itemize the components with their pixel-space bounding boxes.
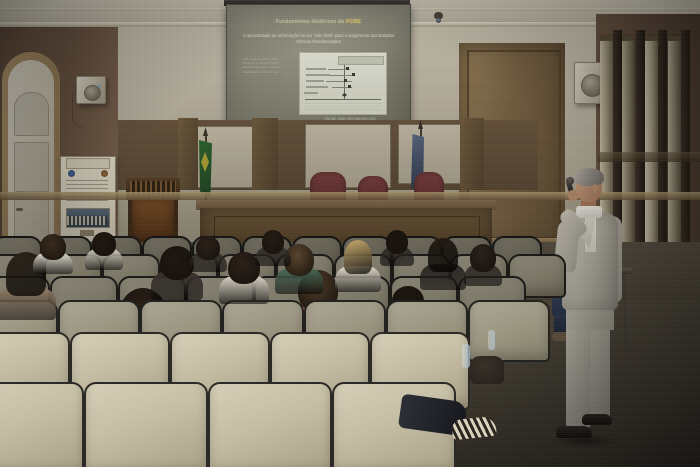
stage-pillar bbox=[460, 118, 484, 190]
figure-row-label bbox=[306, 80, 324, 82]
figure-ci-bar bbox=[330, 75, 354, 76]
stage-pillar bbox=[252, 118, 278, 190]
person-head-short bbox=[40, 234, 66, 260]
poster-logo-icon bbox=[68, 170, 75, 177]
slide-title-text: Fundamentos Históricos da bbox=[276, 19, 346, 25]
figure-header-box bbox=[338, 56, 384, 65]
figure-point-estimate bbox=[352, 73, 355, 76]
auditorium-photograph: Fundamentos Históricos da PCBE A necessi… bbox=[0, 0, 700, 467]
water-bottle bbox=[488, 330, 495, 350]
figure-row-label bbox=[306, 74, 330, 76]
person-head-short bbox=[92, 232, 116, 256]
presenter-ear bbox=[592, 184, 598, 192]
pilaster-band bbox=[598, 152, 700, 162]
stage-pillar bbox=[178, 118, 198, 190]
person-head-short bbox=[386, 230, 408, 254]
person-head-blond bbox=[344, 240, 372, 274]
slide-title: Fundamentos Históricos da PCBE bbox=[227, 19, 410, 25]
poster-footer-logo-icon bbox=[80, 230, 94, 236]
camera-lens-icon bbox=[436, 18, 441, 23]
presenter-shoe bbox=[556, 426, 592, 438]
poster-logo-icon bbox=[101, 170, 108, 177]
person-head-short bbox=[470, 244, 496, 272]
figure-summary-diamond bbox=[342, 93, 347, 97]
water-bottle bbox=[462, 344, 470, 368]
figure-point-estimate bbox=[346, 67, 349, 70]
figure-row-label bbox=[304, 92, 318, 94]
auditorium-seat[interactable] bbox=[468, 300, 550, 362]
presenter bbox=[548, 168, 638, 458]
presenter-shoe bbox=[582, 414, 612, 425]
figure-x-axis bbox=[305, 99, 381, 100]
poster-photo-figures bbox=[67, 216, 107, 225]
figure-point-estimate bbox=[348, 85, 351, 88]
presenter-hair bbox=[574, 168, 604, 186]
wall-speaker-left bbox=[76, 76, 106, 104]
speaker-led-icon bbox=[98, 85, 100, 87]
door-panel bbox=[14, 142, 49, 192]
forest-plot-diagram bbox=[299, 52, 387, 115]
person-head-long bbox=[428, 238, 458, 272]
figure-row-label bbox=[306, 68, 326, 70]
person-head-short bbox=[196, 236, 220, 260]
poster-header-band bbox=[66, 158, 110, 169]
figure-ci-bar bbox=[326, 81, 352, 82]
auditorium-seat[interactable] bbox=[84, 382, 208, 467]
door-handle-icon[interactable] bbox=[16, 208, 23, 211]
backpack bbox=[470, 356, 504, 384]
slide-subtitle: A necessidade de informação foi um "solo… bbox=[241, 33, 396, 46]
presenter-collar bbox=[576, 206, 602, 218]
person-head-short bbox=[262, 230, 284, 254]
figure-point-estimate bbox=[344, 79, 347, 82]
slide-title-acronym: PCBE bbox=[346, 19, 361, 25]
figure-footnote-lines bbox=[304, 103, 382, 111]
figure-row-label bbox=[306, 86, 328, 88]
auditorium-seat[interactable] bbox=[208, 382, 332, 467]
presenter-front-leg bbox=[566, 324, 591, 428]
slide-citation-block: Cliff Cochrane Library 1995 Evidence in … bbox=[243, 57, 287, 74]
speaker-cone-icon bbox=[84, 85, 101, 101]
door-panel bbox=[14, 92, 49, 136]
auditorium-seat[interactable] bbox=[0, 382, 84, 467]
microphone-head-icon bbox=[566, 177, 574, 185]
